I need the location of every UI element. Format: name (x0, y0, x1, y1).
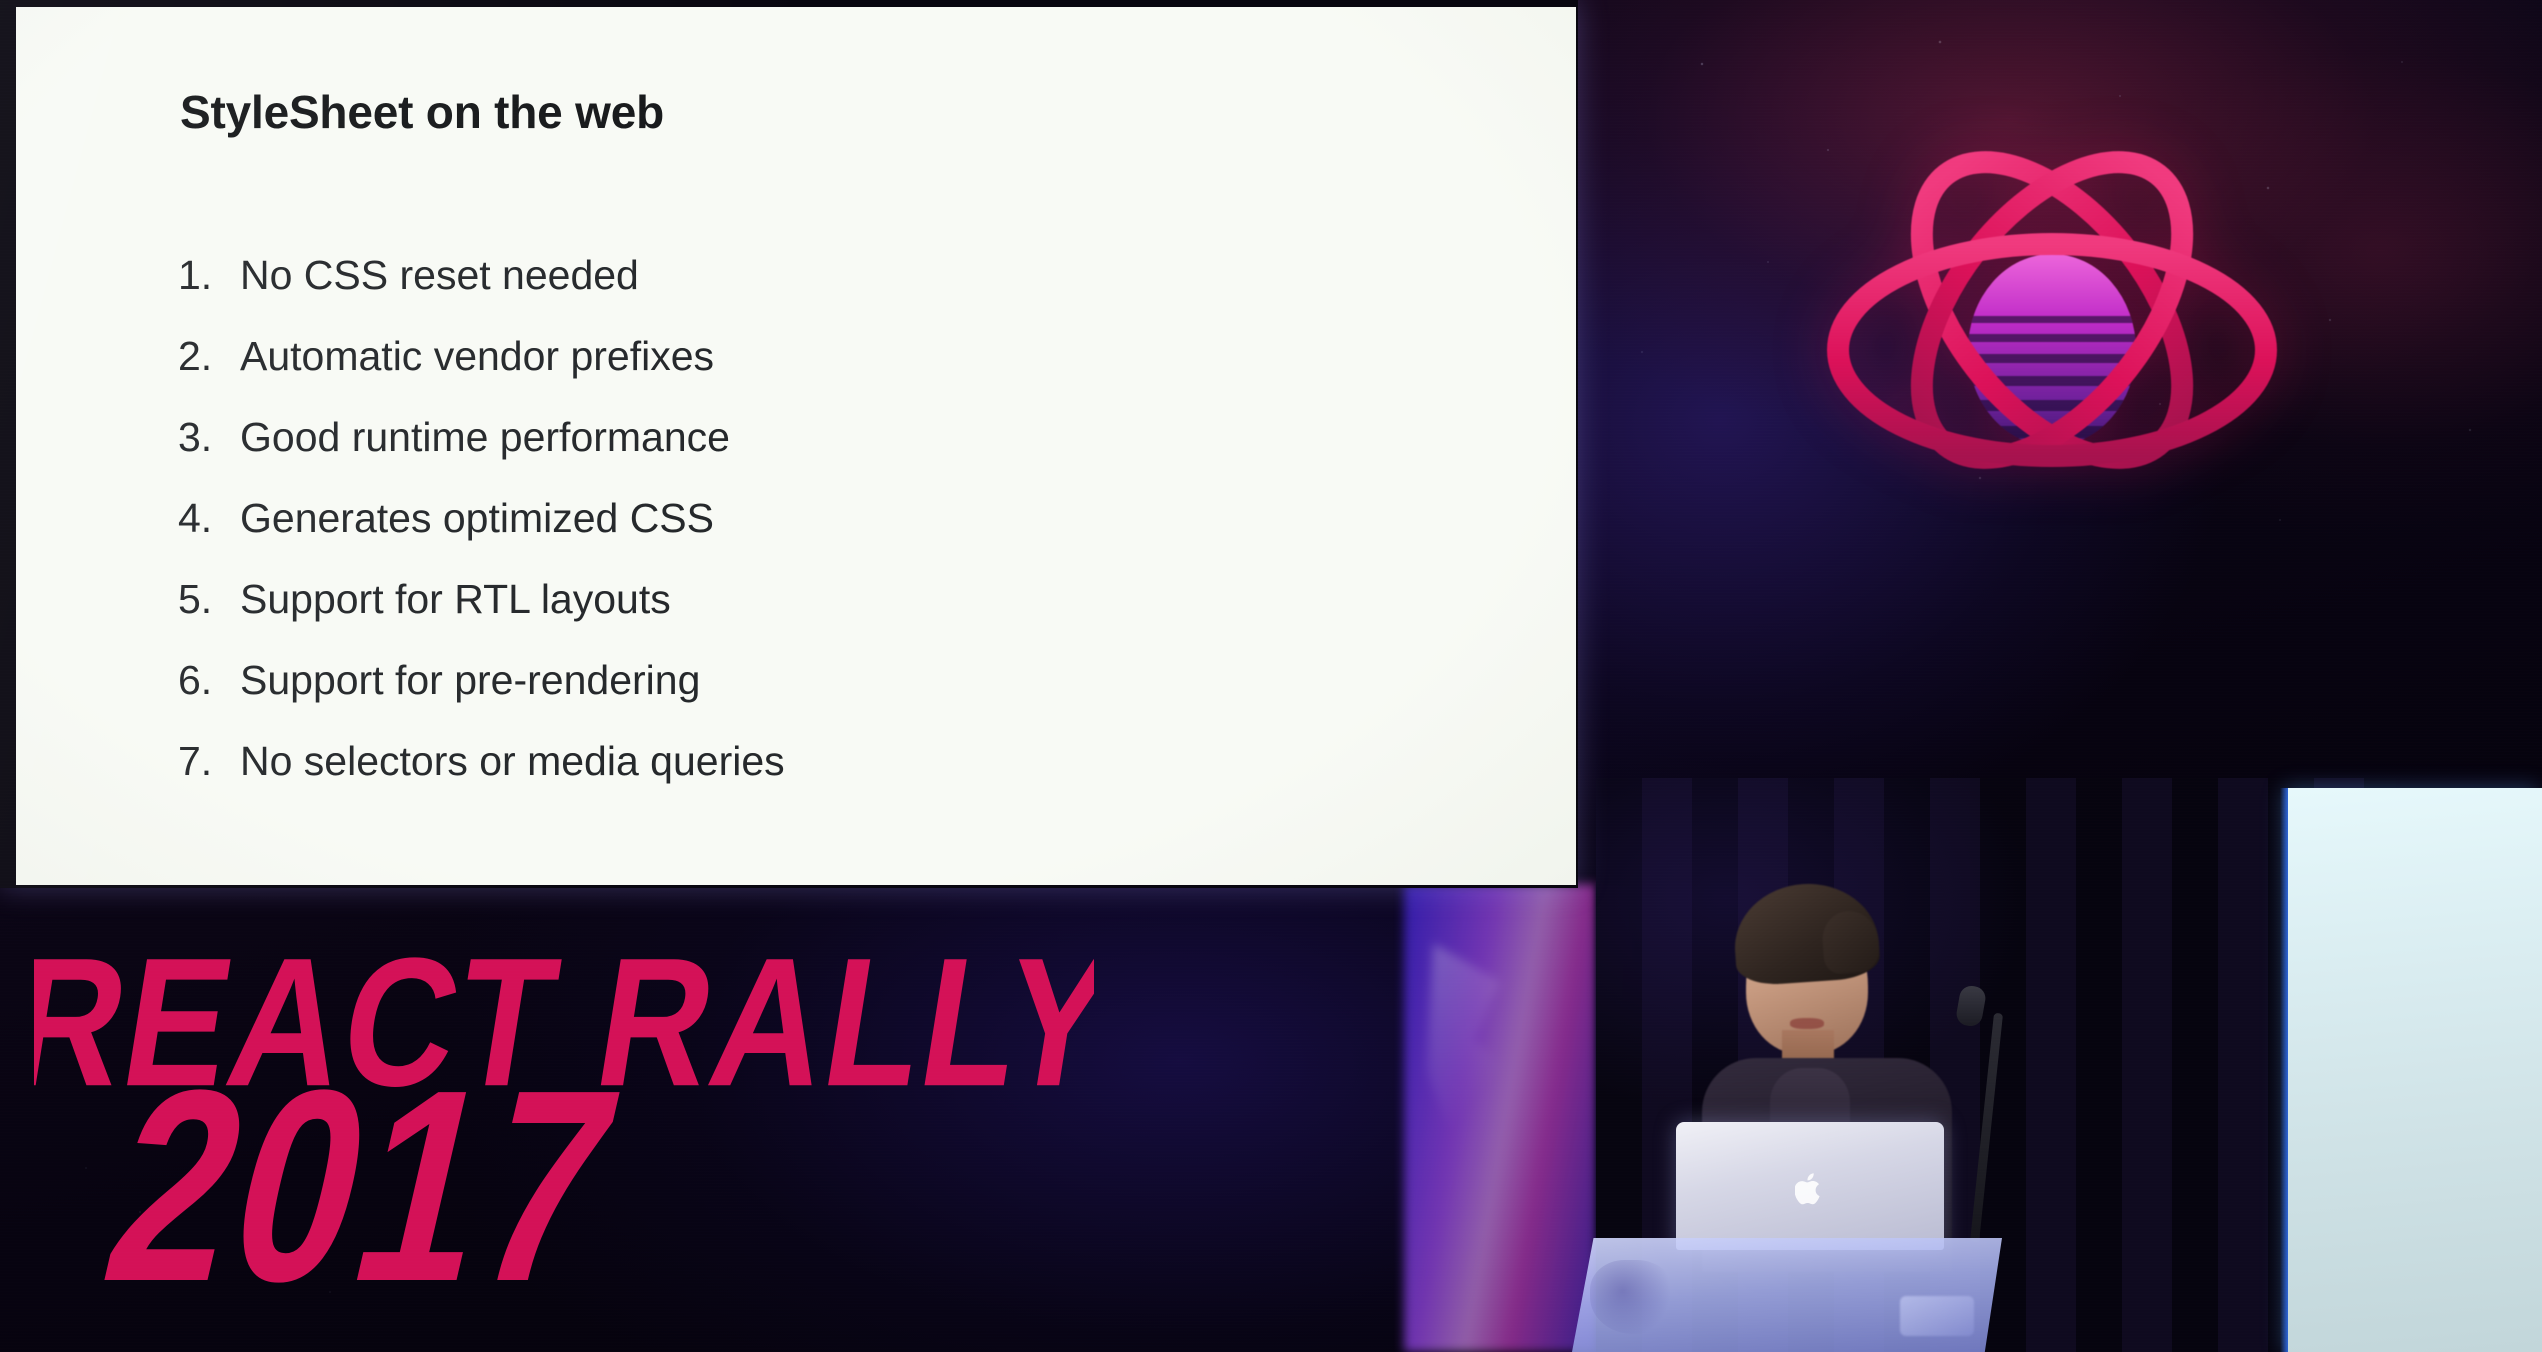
macbook-laptop (1676, 1122, 1944, 1250)
list-item-label: Support for pre-rendering (240, 660, 700, 701)
list-item-label: No CSS reset needed (240, 255, 639, 296)
list-item-label: Good runtime performance (240, 417, 730, 458)
list-item-number: 4. (178, 498, 240, 539)
presentation-slide: StyleSheet on the web 1. No CSS reset ne… (16, 7, 1576, 885)
presenter-mouth (1790, 1018, 1824, 1029)
list-item-label: Support for RTL layouts (240, 579, 671, 620)
list-item: 4. Generates optimized CSS (178, 498, 785, 539)
list-item-label: Generates optimized CSS (240, 498, 714, 539)
list-item: 6. Support for pre-rendering (178, 660, 785, 701)
react-rally-atom-logo (1766, 78, 2338, 478)
podium-badge (1900, 1296, 1974, 1336)
presenter-hair (1731, 879, 1881, 987)
list-item-label: No selectors or media queries (240, 741, 785, 782)
secondary-display (2288, 788, 2542, 1352)
slide-bullet-list: 1. No CSS reset needed 2. Automatic vend… (178, 255, 785, 782)
list-item-label: Automatic vendor prefixes (240, 336, 714, 377)
apple-logo-icon (1795, 1172, 1825, 1206)
list-item: 2. Automatic vendor prefixes (178, 336, 785, 377)
list-item: 3. Good runtime performance (178, 417, 785, 458)
list-item: 1. No CSS reset needed (178, 255, 785, 296)
stage-curtain-lit (1404, 884, 1596, 1352)
list-item-number: 3. (178, 417, 240, 458)
list-item-number: 2. (178, 336, 240, 377)
list-item-number: 5. (178, 579, 240, 620)
projection-screen: StyleSheet on the web 1. No CSS reset ne… (0, 0, 1578, 888)
list-item-number: 6. (178, 660, 240, 701)
list-item: 7. No selectors or media queries (178, 741, 785, 782)
list-item-number: 7. (178, 741, 240, 782)
list-item: 5. Support for RTL layouts (178, 579, 785, 620)
video-frame: REACT RALLY 2017 StyleSh (0, 0, 2542, 1352)
list-item-number: 1. (178, 255, 240, 296)
slide-title: StyleSheet on the web (180, 85, 664, 139)
acrylic-podium (1572, 1238, 2002, 1352)
